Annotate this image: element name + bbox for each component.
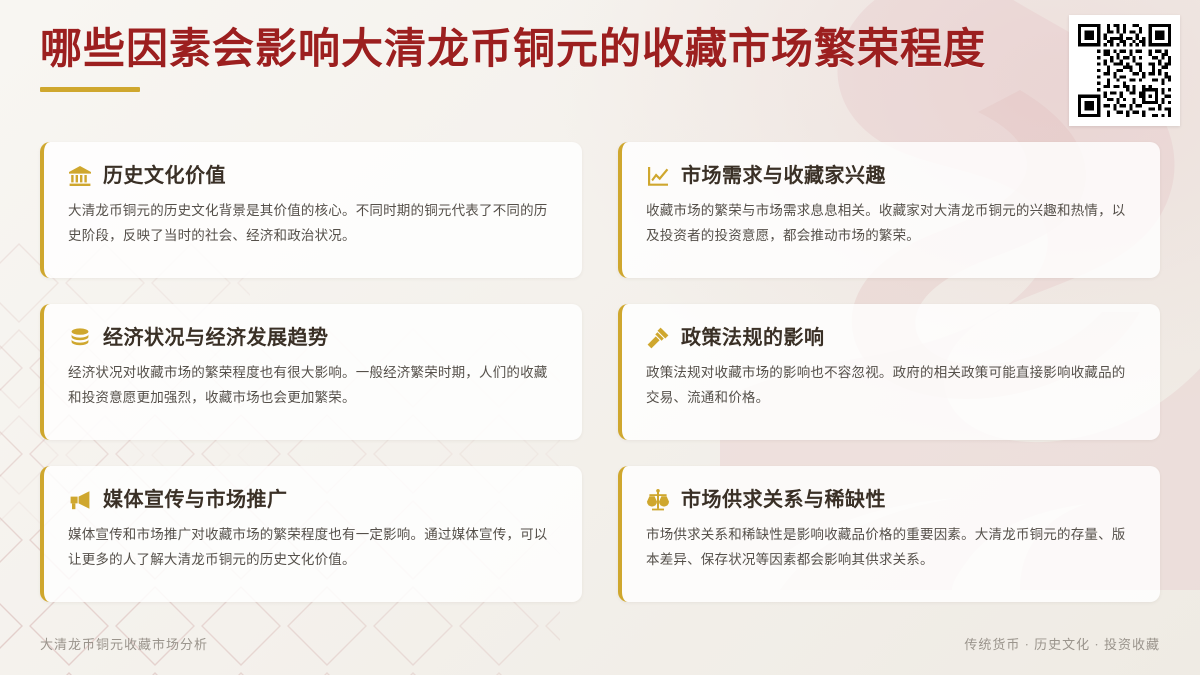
coin-stack-icon bbox=[68, 326, 92, 350]
card-header: 媒体宣传与市场推广 bbox=[68, 488, 556, 512]
card-title: 媒体宣传与市场推广 bbox=[103, 488, 288, 512]
slide-header: 哪些因素会影响大清龙币铜元的收藏市场繁荣程度 bbox=[40, 28, 1150, 92]
page-title: 哪些因素会影响大清龙币铜元的收藏市场繁荣程度 bbox=[40, 28, 1150, 73]
footer-right-label: 传统货币 · 历史文化 · 投资收藏 bbox=[964, 634, 1160, 653]
card-header: 历史文化价值 bbox=[68, 164, 556, 188]
card-header: 市场需求与收藏家兴趣 bbox=[646, 164, 1134, 188]
gavel-icon bbox=[646, 326, 670, 350]
factor-card-grid: 历史文化价值 大清龙币铜元的历史文化背景是其价值的核心。不同时期的铜元代表了不同… bbox=[40, 142, 1160, 602]
card-body-text: 大清龙币铜元的历史文化背景是其价值的核心。不同时期的铜元代表了不同的历史阶段，反… bbox=[68, 199, 556, 249]
card-body-text: 政策法规对收藏市场的影响也不容忽视。政府的相关政策可能直接影响收藏品的交易、流通… bbox=[646, 361, 1134, 411]
factor-card[interactable]: 媒体宣传与市场推广 媒体宣传和市场推广对收藏市场的繁荣程度也有一定影响。通过媒体… bbox=[40, 466, 582, 602]
card-body-text: 市场供求关系和稀缺性是影响收藏品价格的重要因素。大清龙币铜元的存量、版本差异、保… bbox=[646, 523, 1134, 573]
card-title: 市场需求与收藏家兴趣 bbox=[681, 164, 886, 188]
card-body-text: 经济状况对收藏市场的繁荣程度也有很大影响。一般经济繁荣时期，人们的收藏和投资意愿… bbox=[68, 361, 556, 411]
factor-card[interactable]: 历史文化价值 大清龙币铜元的历史文化背景是其价值的核心。不同时期的铜元代表了不同… bbox=[40, 142, 582, 278]
factor-card[interactable]: 经济状况与经济发展趋势 经济状况对收藏市场的繁荣程度也有很大影响。一般经济繁荣时… bbox=[40, 304, 582, 440]
bank-building-icon bbox=[68, 164, 92, 188]
qr-code-icon bbox=[1078, 24, 1171, 117]
chart-line-icon bbox=[646, 164, 670, 188]
balance-scale-icon bbox=[646, 488, 670, 512]
title-underline-accent bbox=[40, 87, 140, 92]
card-title: 政策法规的影响 bbox=[681, 326, 825, 350]
card-header: 政策法规的影响 bbox=[646, 326, 1134, 350]
card-title: 市场供求关系与稀缺性 bbox=[681, 488, 886, 512]
card-title: 经济状况与经济发展趋势 bbox=[103, 326, 329, 350]
qr-code[interactable] bbox=[1069, 15, 1180, 126]
card-body-text: 收藏市场的繁荣与市场需求息息相关。收藏家对大清龙币铜元的兴趣和热情，以及投资者的… bbox=[646, 199, 1134, 249]
card-header: 市场供求关系与稀缺性 bbox=[646, 488, 1134, 512]
slide-canvas: 哪些因素会影响大清龙币铜元的收藏市场繁荣程度 bbox=[0, 0, 1200, 675]
factor-card[interactable]: 市场供求关系与稀缺性 市场供求关系和稀缺性是影响收藏品价格的重要因素。大清龙币铜… bbox=[618, 466, 1160, 602]
card-header: 经济状况与经济发展趋势 bbox=[68, 326, 556, 350]
factor-card[interactable]: 政策法规的影响 政策法规对收藏市场的影响也不容忽视。政府的相关政策可能直接影响收… bbox=[618, 304, 1160, 440]
card-body-text: 媒体宣传和市场推广对收藏市场的繁荣程度也有一定影响。通过媒体宣传，可以让更多的人… bbox=[68, 523, 556, 573]
factor-card[interactable]: 市场需求与收藏家兴趣 收藏市场的繁荣与市场需求息息相关。收藏家对大清龙币铜元的兴… bbox=[618, 142, 1160, 278]
card-title: 历史文化价值 bbox=[103, 164, 226, 188]
megaphone-icon bbox=[68, 488, 92, 512]
footer-left-label: 大清龙币铜元收藏市场分析 bbox=[40, 634, 208, 653]
